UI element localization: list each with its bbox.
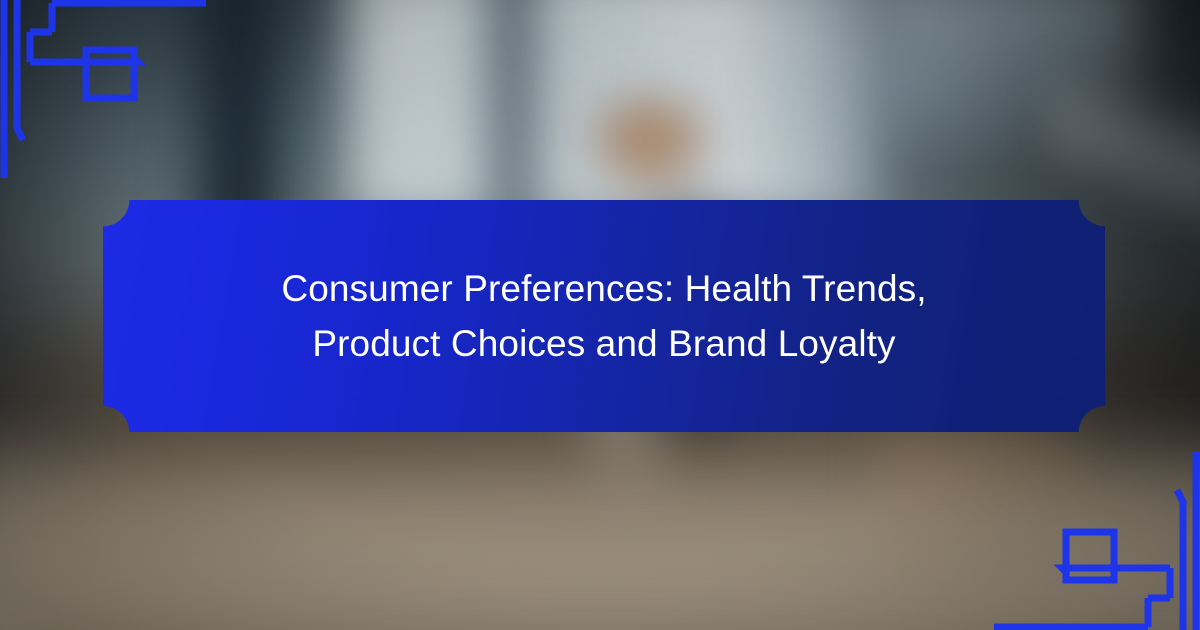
page-title: Consumer Preferences: Health Trends, Pro… [233,261,974,371]
title-banner: Consumer Preferences: Health Trends, Pro… [103,200,1105,432]
share-card: Consumer Preferences: Health Trends, Pro… [0,0,1200,630]
